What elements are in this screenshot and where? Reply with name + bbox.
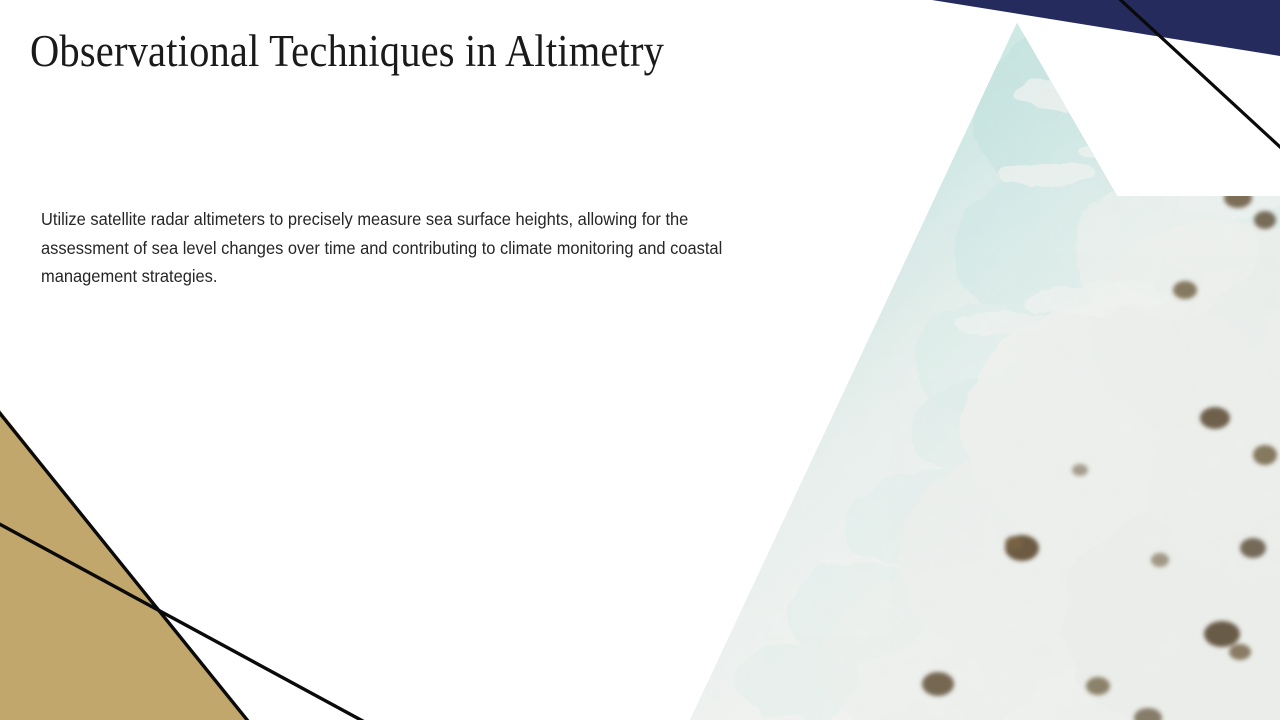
ocean-surf-photo	[640, 0, 1280, 720]
rocks	[922, 188, 1277, 720]
accent-line-tan-edge	[0, 406, 252, 720]
accent-line-top-right	[1112, 0, 1280, 158]
navy-triangle	[932, 0, 1280, 56]
presentation-slide: Observational Techniques in Altimetry Ut…	[0, 0, 1280, 720]
black-diagonal-lines	[0, 0, 1280, 720]
tan-triangle	[0, 410, 245, 720]
accent-line-lower	[0, 521, 372, 720]
page-title: Observational Techniques in Altimetry	[30, 26, 768, 76]
slide-body-text: Utilize satellite radar altimeters to pr…	[41, 205, 761, 291]
slide-decoration-artwork	[0, 0, 1280, 720]
